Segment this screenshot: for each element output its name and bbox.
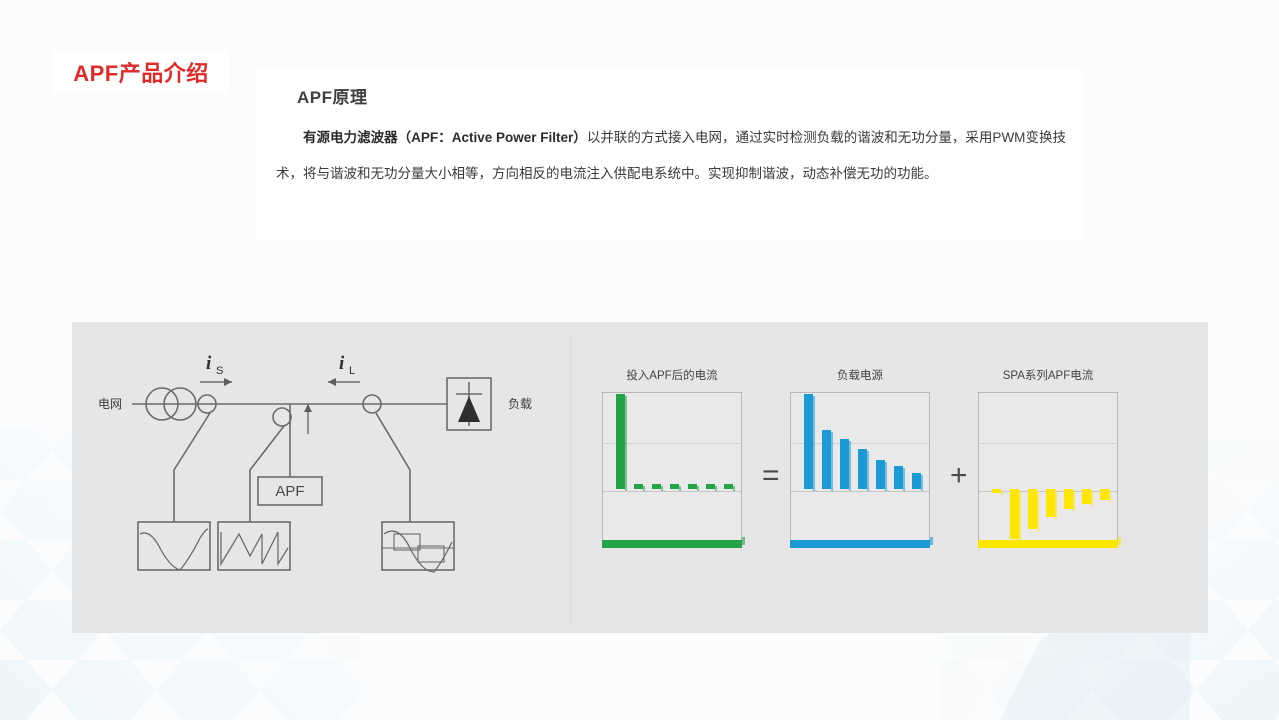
chart-zero-line: [791, 491, 929, 492]
chart-bar-shadow: [733, 486, 735, 491]
chart-bar-shadow: [1001, 491, 1003, 495]
chart-bar: [634, 484, 643, 489]
charts-group: 投入APF后的电流 = 负载电源 + SPA系列APF电流: [602, 367, 1192, 607]
operator-plus: +: [950, 459, 968, 493]
chart-bar: [688, 484, 697, 489]
chart-bar-shadow: [885, 462, 887, 490]
chart-frame-1: [790, 392, 930, 542]
chart-base-1: [790, 540, 930, 548]
current-source-subscript: S: [216, 365, 223, 377]
chart-bar: [1100, 489, 1109, 500]
chart-gridline: [979, 443, 1117, 444]
circuit-diagram: APF 电网 负载 i S i L: [92, 342, 562, 612]
chart-bar-shadow: [831, 432, 833, 491]
slide-title-text: APF产品介绍: [73, 56, 209, 88]
operator-equals: =: [762, 459, 780, 493]
card-heading: APF原理: [297, 83, 368, 108]
chart-title-2: SPA系列APF电流: [978, 367, 1118, 383]
chart-bar-shadow: [697, 486, 699, 491]
chart-bar-shadow: [661, 486, 663, 491]
chart-bar-shadow: [1073, 491, 1075, 511]
card-body-paragraph: 有源电力滤波器（APF：Active Power Filter）以并联的方式接入…: [276, 120, 1066, 192]
current-load-subscript: L: [349, 365, 355, 377]
chart-bar-shadow: [1091, 491, 1093, 506]
chart-bar: [724, 484, 733, 489]
chart-bar: [992, 489, 1001, 493]
current-source-symbol: i: [206, 353, 212, 374]
chart-bar: [822, 430, 831, 489]
chart-bar: [804, 394, 813, 489]
slide-title-tag: APF产品介绍: [52, 50, 230, 94]
chart-bar: [894, 466, 903, 489]
chart-bar-shadow: [921, 475, 923, 490]
chart-bar: [840, 439, 849, 488]
chart-bar: [616, 394, 625, 489]
chart-bar-shadow: [625, 396, 627, 491]
chart-bar-shadow: [867, 451, 869, 491]
chart-bar-shadow: [1019, 491, 1021, 542]
chart-load-source: 负载电源: [790, 367, 930, 542]
chart-bar: [706, 484, 715, 489]
chart-spa-apf-current: SPA系列APF电流: [978, 367, 1118, 542]
chart-frame-0: [602, 392, 742, 542]
chart-bar: [652, 484, 661, 489]
chart-frame-2: [978, 392, 1118, 542]
chart-bar-shadow: [1037, 491, 1039, 532]
card-body-bold-lead: 有源电力滤波器（APF：Active Power Filter）: [303, 130, 587, 145]
chart-bar: [858, 449, 867, 489]
diagram-panel: APF 电网 负载 i S i L 投入APF后的电流 = 负载电源 + SPA…: [72, 322, 1208, 633]
content-card: APF原理 有源电力滤波器（APF：Active Power Filter）以并…: [255, 68, 1083, 241]
chart-bar: [1064, 489, 1073, 509]
apf-box-label: APF: [275, 483, 304, 500]
chart-bar-shadow: [1055, 491, 1057, 519]
chart-title-1: 负载电源: [790, 367, 930, 383]
chart-bar: [1046, 489, 1055, 517]
chart-bar-shadow: [849, 441, 851, 490]
chart-bar-shadow: [1109, 491, 1111, 502]
chart-bar-shadow: [715, 486, 717, 491]
chart-bar: [1028, 489, 1037, 530]
chart-bar: [912, 473, 921, 488]
chart-bar-shadow: [679, 486, 681, 491]
chart-title-0: 投入APF后的电流: [602, 367, 742, 383]
chart-bar-shadow: [813, 396, 815, 491]
chart-apf-output-current: 投入APF后的电流: [602, 367, 742, 542]
chart-bar: [670, 484, 679, 489]
chart-zero-line: [603, 491, 741, 492]
load-label: 负载: [508, 397, 532, 411]
chart-bar: [1082, 489, 1091, 504]
chart-bar: [1010, 489, 1019, 540]
chart-bar-shadow: [643, 486, 645, 491]
chart-bar-shadow: [903, 468, 905, 491]
chart-base-2: [978, 540, 1118, 548]
chart-bar: [876, 460, 885, 488]
chart-base-0: [602, 540, 742, 548]
current-load-symbol: i: [339, 353, 345, 374]
grid-label: 电网: [98, 397, 122, 411]
panel-divider: [570, 332, 571, 623]
